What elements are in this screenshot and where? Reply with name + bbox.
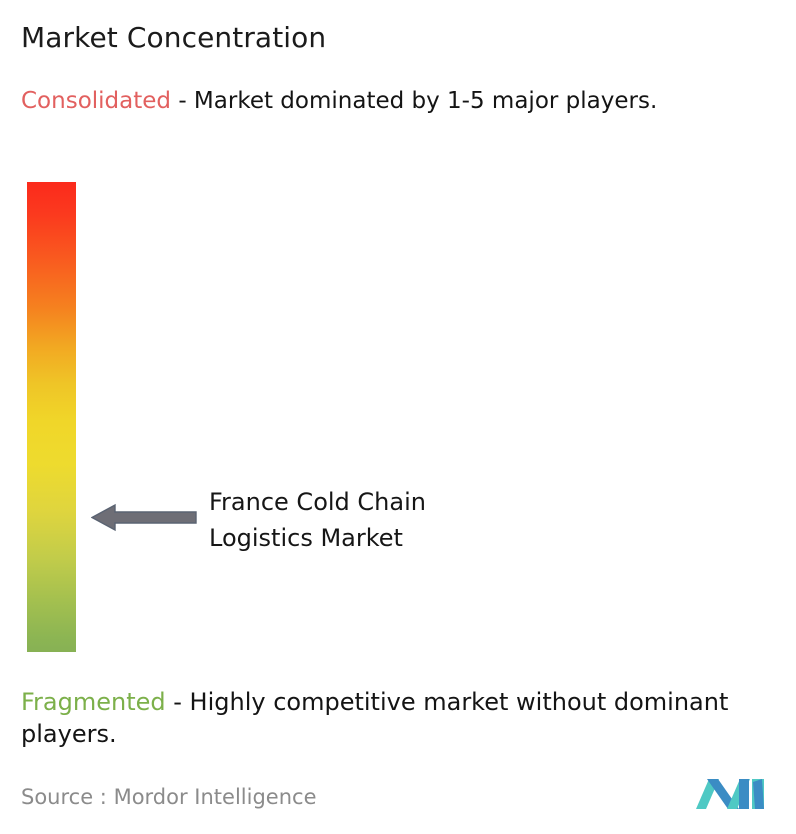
source-label: Source : (21, 785, 107, 809)
concentration-gradient-bar (27, 182, 76, 652)
legend-consolidated-term: Consolidated (21, 88, 171, 114)
source-value: Mordor Intelligence (114, 785, 317, 809)
legend-consolidated-description: - Market dominated by 1-5 major players. (171, 88, 657, 114)
legend-fragmented-term: Fragmented (21, 688, 166, 716)
legend-fragmented: Fragmented - Highly competitive market w… (21, 686, 789, 750)
marker-label: France Cold Chain Logistics Market (209, 484, 539, 556)
market-concentration-chart: Market Concentration Consolidated - Mark… (0, 0, 796, 834)
page-title: Market Concentration (21, 20, 326, 56)
marker-label-line-1: France Cold Chain (209, 484, 539, 520)
source-attribution: Source : Mordor Intelligence (21, 783, 316, 811)
legend-consolidated: Consolidated - Market dominated by 1-5 m… (21, 86, 781, 117)
mordor-intelligence-logo (694, 769, 776, 815)
arrow-left-icon (91, 503, 197, 532)
marker-label-line-2: Logistics Market (209, 520, 539, 556)
